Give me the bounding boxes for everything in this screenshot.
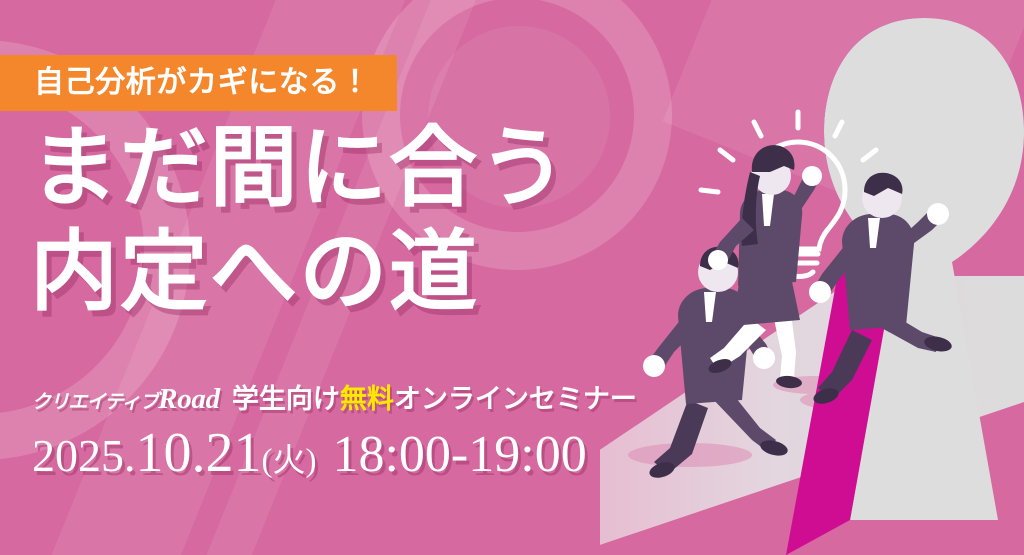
headline-line-2: 内定への道	[30, 228, 479, 316]
catchphrase-text: 自己分析がカギになる！	[34, 68, 371, 98]
headline-line-1: まだ間に合う	[30, 124, 569, 212]
brand-name: Road	[158, 383, 220, 415]
event-type-label: オンラインセミナー	[394, 384, 637, 414]
subtitle-line: クリエイティブRoad学生向け無料オンラインセミナー	[32, 385, 637, 414]
text-column: 自己分析がカギになる！ まだ間に合う 内定への道 クリエイティブRoad学生向け…	[0, 0, 640, 555]
illustration	[600, 0, 1024, 555]
brand-prefix: クリエイティブ	[32, 392, 158, 413]
catchphrase-badge: 自己分析がカギになる！	[0, 55, 397, 111]
event-year: 2025.	[32, 430, 136, 481]
event-month-day: 10.21	[136, 422, 262, 484]
event-datetime: 2025.10.21(火)18:00-19:00	[32, 425, 587, 481]
event-time-range: 18:00-19:00	[332, 426, 586, 483]
free-label: 無料	[340, 384, 394, 414]
audience-label: 学生向け	[232, 384, 340, 414]
event-day-of-week: (火)	[262, 443, 317, 479]
seminar-banner: 自己分析がカギになる！ まだ間に合う 内定への道 クリエイティブRoad学生向け…	[0, 0, 1024, 555]
